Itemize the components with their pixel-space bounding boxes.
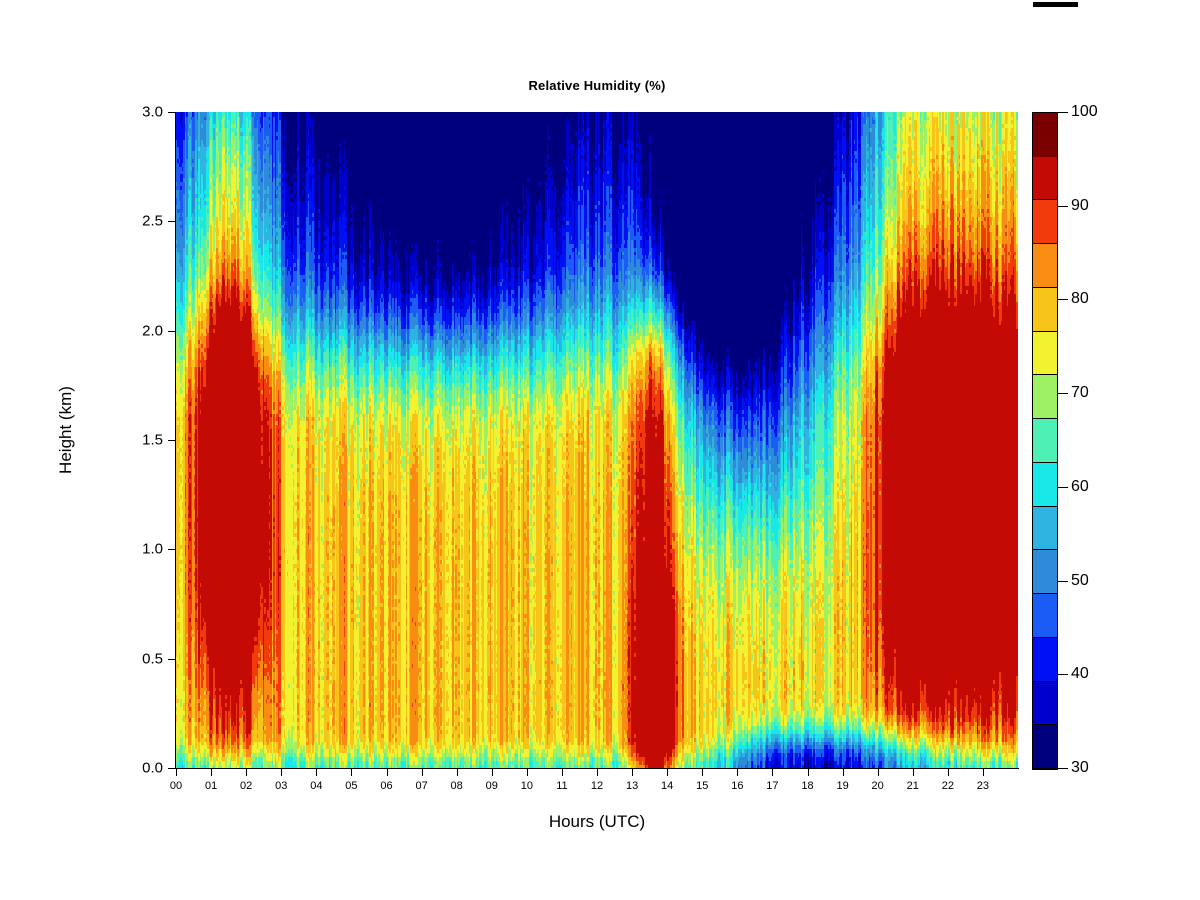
colorbar-band [1033, 507, 1057, 551]
x-tick-mark [808, 769, 809, 776]
x-tick-mark [211, 769, 212, 776]
x-tick-label: 05 [345, 780, 357, 792]
colorbar-tick-mark [1058, 581, 1068, 582]
colorbar-tick-mark [1058, 299, 1068, 300]
colorbar-tick-label: 90 [1071, 197, 1089, 215]
colorbar-band [1033, 200, 1057, 244]
y-tick-label: 2.0 [142, 322, 163, 339]
x-tick-mark [983, 769, 984, 776]
colorbar-band [1033, 244, 1057, 288]
colorbar-band [1033, 594, 1057, 638]
colorbar-band [1033, 113, 1057, 157]
colorbar [1032, 112, 1058, 770]
colorbar-tick-label: 50 [1071, 572, 1089, 590]
y-tick-mark [168, 768, 175, 769]
x-tick-label: 11 [556, 780, 567, 792]
x-tick-mark [176, 769, 177, 776]
colorbar-tick-label: 40 [1071, 665, 1089, 683]
x-tick-label: 14 [661, 780, 673, 792]
x-tick-label: 10 [521, 780, 533, 792]
x-tick-mark [492, 769, 493, 776]
colorbar-tick-mark [1058, 674, 1068, 675]
x-tick-label: 13 [626, 780, 638, 792]
x-tick-mark [422, 769, 423, 776]
y-tick-mark [168, 112, 175, 113]
y-tick-mark [168, 549, 175, 550]
x-tick-label: 22 [942, 780, 954, 792]
x-tick-mark [351, 769, 352, 776]
colorbar-band [1033, 638, 1057, 682]
x-tick-mark [387, 769, 388, 776]
y-axis-ticks: 0.00.51.01.52.02.53.0 [0, 0, 163, 900]
colorbar-tick-mark [1058, 487, 1068, 488]
colorbar-tick-mark [1058, 768, 1068, 769]
y-tick-mark [168, 440, 175, 441]
y-axis-line [175, 112, 176, 769]
x-tick-mark [702, 769, 703, 776]
colorbar-tick-mark [1058, 393, 1068, 394]
colorbar-band [1033, 463, 1057, 507]
humidity-field-canvas [176, 112, 1018, 768]
x-tick-label: 07 [415, 780, 427, 792]
x-tick-label: 21 [907, 780, 919, 792]
x-tick-mark [632, 769, 633, 776]
x-tick-mark [597, 769, 598, 776]
x-tick-mark [913, 769, 914, 776]
page-title: Relative Humidity (%) [176, 78, 1018, 93]
x-tick-label: 15 [696, 780, 708, 792]
colorbar-band [1033, 682, 1057, 726]
x-tick-label: 06 [380, 780, 392, 792]
colorbar-tick-label: 100 [1071, 103, 1098, 121]
x-tick-mark [562, 769, 563, 776]
colorbar-band [1033, 725, 1057, 769]
y-axis-title: Height (km) [56, 340, 76, 520]
colorbar-tick-label: 60 [1071, 478, 1089, 496]
x-tick-label: 18 [801, 780, 813, 792]
x-tick-label: 23 [977, 780, 989, 792]
colorbar-tick-label: 30 [1071, 759, 1089, 777]
x-tick-mark [527, 769, 528, 776]
colorbar-band [1033, 332, 1057, 376]
y-tick-label: 3.0 [142, 104, 163, 121]
x-tick-label: 01 [205, 780, 217, 792]
x-tick-mark [737, 769, 738, 776]
x-tick-label: 16 [731, 780, 743, 792]
y-tick-label: 0.0 [142, 760, 163, 777]
x-tick-mark [948, 769, 949, 776]
x-tick-mark [281, 769, 282, 776]
x-tick-label: 00 [170, 780, 182, 792]
x-tick-label: 12 [591, 780, 603, 792]
colorbar-band [1033, 375, 1057, 419]
y-tick-label: 2.5 [142, 213, 163, 230]
colorbar-band [1033, 419, 1057, 463]
x-tick-mark [316, 769, 317, 776]
heatmap-plot-area [176, 112, 1018, 768]
colorbar-tick-label: 70 [1071, 384, 1089, 402]
y-tick-label: 1.5 [142, 432, 163, 449]
x-tick-label: 19 [836, 780, 848, 792]
x-tick-mark [843, 769, 844, 776]
y-tick-mark [168, 659, 175, 660]
x-tick-mark [457, 769, 458, 776]
x-tick-label: 04 [310, 780, 322, 792]
x-tick-label: 20 [872, 780, 884, 792]
colorbar-band [1033, 550, 1057, 594]
x-tick-label: 08 [451, 780, 463, 792]
corner-artifact-bar [1033, 2, 1078, 7]
colorbar-tick-mark [1058, 112, 1068, 113]
colorbar-band [1033, 288, 1057, 332]
x-tick-mark [246, 769, 247, 776]
colorbar-tick-label: 80 [1071, 290, 1089, 308]
x-tick-label: 17 [766, 780, 778, 792]
colorbar-band [1033, 157, 1057, 201]
relative-humidity-time-height-figure: Relative Humidity (%) 000102030405060708… [0, 0, 1200, 900]
y-tick-label: 1.0 [142, 541, 163, 558]
x-tick-mark [667, 769, 668, 776]
y-tick-label: 0.5 [142, 650, 163, 667]
x-tick-label: 03 [275, 780, 287, 792]
y-tick-mark [168, 221, 175, 222]
colorbar-tick-mark [1058, 206, 1068, 207]
x-axis-title: Hours (UTC) [176, 812, 1018, 832]
x-tick-label: 02 [240, 780, 252, 792]
x-tick-mark [878, 769, 879, 776]
x-tick-label: 09 [486, 780, 498, 792]
x-tick-mark [772, 769, 773, 776]
y-tick-mark [168, 331, 175, 332]
